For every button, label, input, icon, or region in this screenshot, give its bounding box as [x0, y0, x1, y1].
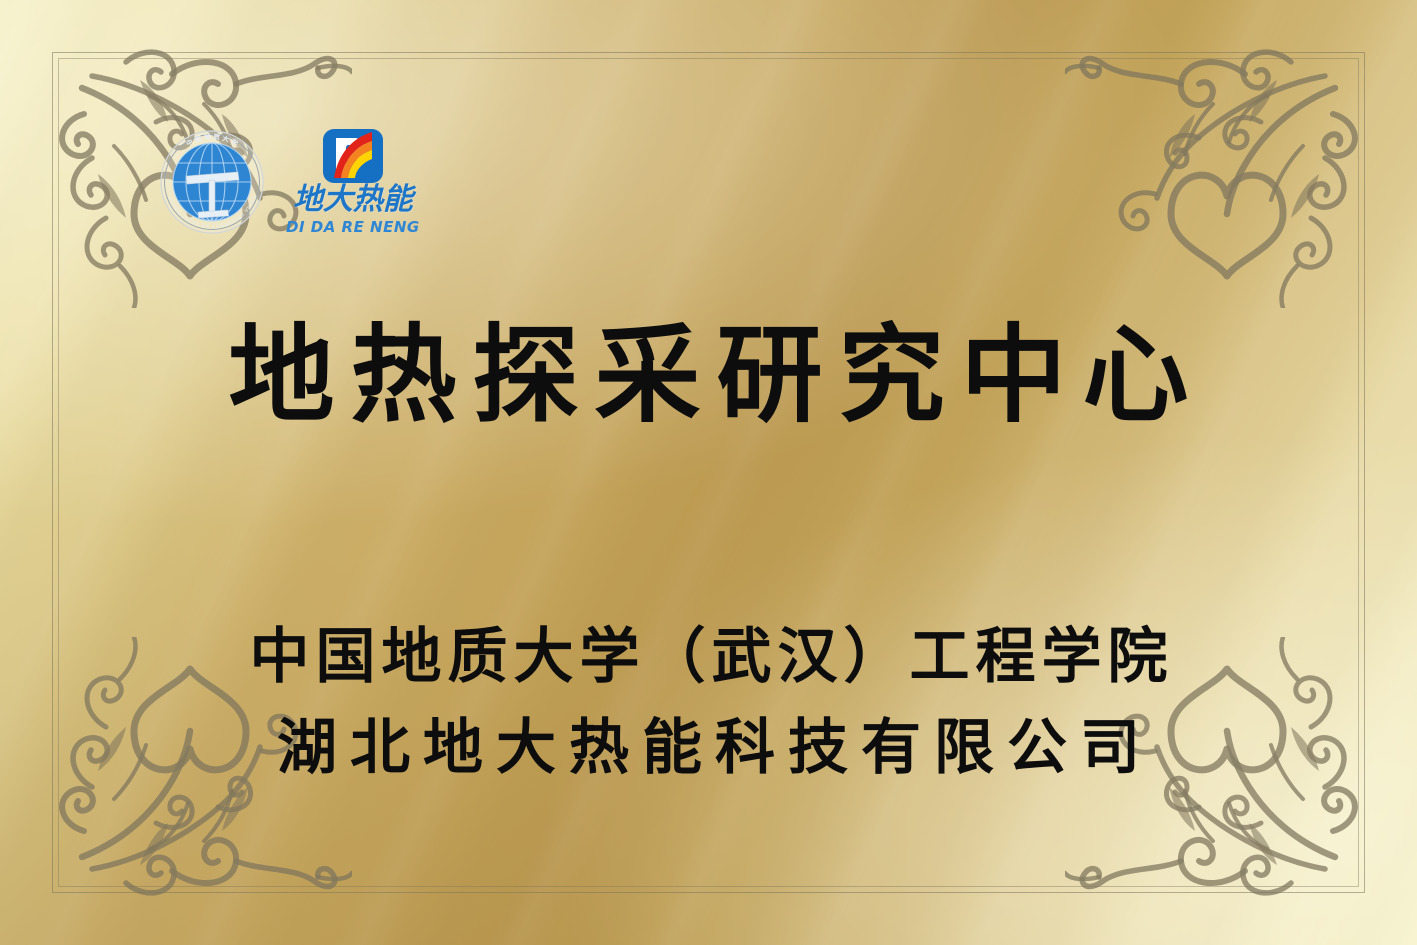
- plaque-subtitle-block: 中国地质大学（武汉）工程学院 湖北地大热能科技有限公司: [0, 612, 1417, 794]
- didareneng-chinese-wordmark: 地大热能: [293, 185, 413, 215]
- china-university-of-geosciences-seal-icon: 中 国 地 质 大 学 CHINA UNIVERSITY OF GEOSCIEN…: [160, 130, 264, 234]
- didareneng-mark-icon: [322, 128, 384, 184]
- didareneng-pinyin-wordmark: DI DA RE NENG: [286, 218, 420, 236]
- plaque-title: 地热探采研究中心: [0, 318, 1417, 435]
- svg-text:1952: 1952: [207, 218, 218, 223]
- logo-group: 中 国 地 质 大 学 CHINA UNIVERSITY OF GEOSCIEN…: [160, 128, 420, 236]
- corner-filigree-top-right: [1065, 18, 1395, 308]
- plaque-subtitle-line-1: 中国地质大学（武汉）工程学院: [0, 612, 1417, 703]
- didareneng-logo: 地大热能 DI DA RE NENG: [286, 128, 420, 236]
- plaque-subtitle-line-2: 湖北地大热能科技有限公司: [0, 703, 1417, 794]
- award-plaque: 中 国 地 质 大 学 CHINA UNIVERSITY OF GEOSCIEN…: [0, 0, 1417, 945]
